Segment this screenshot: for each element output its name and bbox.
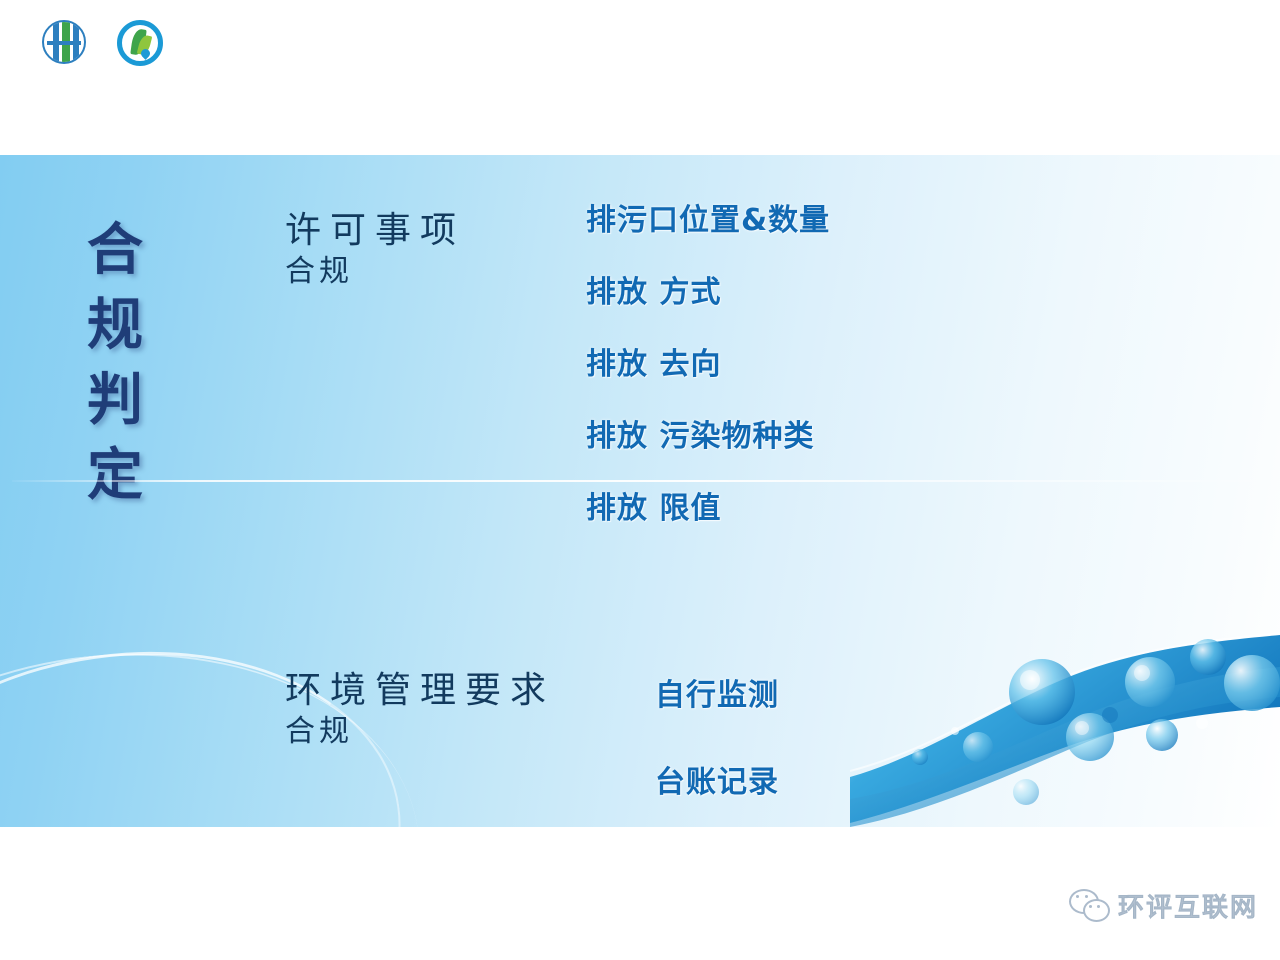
list-item: 排放 方式 [586,267,830,311]
section-item-list-environment: 自行监测 台账记录 执行报告 信息公开 [655,670,779,827]
watermark: 环评互联网 [1069,887,1258,924]
list-item: 排放 污染物种类 [586,411,830,455]
list-item: 排污口位置&数量 [586,195,830,239]
list-item: 自行监测 [655,670,779,714]
wechat-icon [1069,889,1109,923]
section-divider [12,480,1268,482]
water-authority-logo [42,20,86,64]
vertical-title-char-2: 规 [87,288,143,363]
section-item-list-permit: 排污口位置&数量 排放 方式 排放 去向 排放 污染物种类 排放 限值 [586,195,830,527]
vertical-title-char-1: 合 [87,213,143,288]
slide-footer: 环评互联网 [0,827,1280,960]
vertical-title-char-3: 判 [87,363,143,438]
section-heading-line1: 环境管理要求 [285,670,555,712]
slide-content-panel: 合 规 判 定 许可事项 合规 排污口位置&数量 排放 方式 排放 去向 排放 … [0,155,1280,827]
section-heading-line2: 合规 [285,252,465,291]
section-heading-permit: 许可事项 合规 [285,210,465,291]
section-heading-line2: 合规 [285,712,555,751]
vertical-page-title: 合 规 判 定 [55,213,175,513]
slide-header [0,0,1280,155]
list-item: 排放 去向 [586,339,830,383]
eco-leaf-logo [117,20,163,66]
section-heading-line1: 许可事项 [285,210,465,252]
watermark-text: 环评互联网 [1118,887,1258,924]
list-item: 台账记录 [655,757,779,801]
section-heading-environment: 环境管理要求 合规 [285,670,555,751]
list-item: 排放 限值 [586,483,830,527]
water-wave-graphic [850,627,1280,827]
vertical-title-char-4: 定 [87,438,143,513]
